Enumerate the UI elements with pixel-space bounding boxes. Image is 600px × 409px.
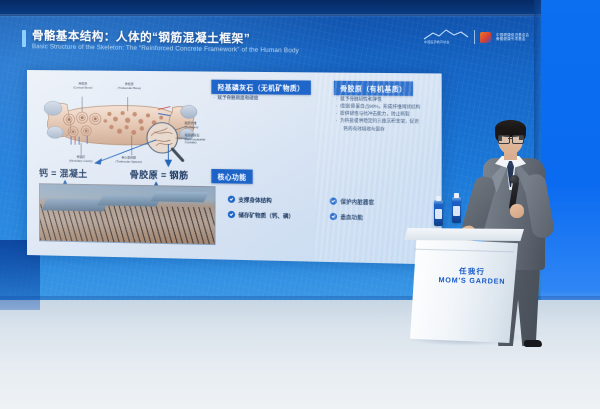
header-accent-bar <box>22 30 26 47</box>
bullets-hydroxyapatite: 赋予骨骼刚度和硬度 <box>213 94 258 102</box>
podium: 任我行 MOM'S GARDEN <box>404 228 524 343</box>
check-circle-icon <box>228 196 235 203</box>
water-bottle-left <box>434 200 443 226</box>
diagram-label-trabecular-spaces: 骨小梁间隙(Trabecular Spaces) <box>115 156 141 164</box>
bottle-cap <box>436 196 441 201</box>
bottle-label <box>435 209 442 219</box>
slide-header: 骨骼基本结构：人体的“钢筋混凝土框架” Basic Structure of t… <box>22 27 444 68</box>
tag-core-functions: 核心功能 <box>211 169 252 184</box>
water-bottle-right <box>452 197 461 223</box>
eyeglass-lens-left <box>498 135 510 144</box>
check-circle-icon <box>330 213 337 220</box>
core-function-label: 支撑身体结构 <box>238 195 271 204</box>
core-function-label: 造血功能 <box>340 213 363 222</box>
core-functions-block: 核心功能 支撑身体结构 保护内脏器官 储存矿物质（钙、磷） 造血功能 <box>207 169 431 249</box>
foundation-logo-text: 中国健康促进基金会 骨骼健康专项基金 <box>496 33 529 42</box>
bullets-collagen: 赋予骨骼韧性和弹性 Ⅰ型胶原蛋白占90%，形成纤维网状结构 提供韧性与抗冲击能力… <box>336 95 420 133</box>
core-functions-grid: 支撑身体结构 保护内脏器官 储存矿物质（钙、磷） 造血功能 <box>228 192 433 227</box>
bottle-label <box>453 206 460 216</box>
equation-calcium-concrete: 钙 = 混凝土 <box>39 166 88 180</box>
bottle-cap <box>454 193 459 198</box>
bullet-hydroxyapatite-1: 赋予骨骼刚度和硬度 <box>213 94 258 102</box>
logo-divider <box>474 30 475 44</box>
eyeglass-lens-right <box>512 135 524 144</box>
microphone-head-icon <box>510 175 519 184</box>
diagram-label-collagen: 胶原纤维(Collagen) <box>185 122 199 130</box>
speaker-hand-holding-mic <box>510 204 524 218</box>
analogy-equations: 钙 = 混凝土 骨胶原 = 钢筋 <box>33 166 222 185</box>
photo-slab-3 <box>150 191 209 202</box>
core-function-label: 保护内脏器官 <box>340 197 374 206</box>
foundation-logo-line2: 骨骼健康专项基金 <box>496 37 529 41</box>
check-circle-icon <box>228 211 235 218</box>
backdrop-top-sheen <box>0 14 600 18</box>
bone-anatomy-diagram: 骨密质(Cortical Bone) 骨松质(Trabecular Bone) … <box>35 78 207 169</box>
tag-hydroxyapatite: 羟基磷灰石（无机矿物质） <box>211 80 310 96</box>
diagram-label-trabecular: 骨松质(Trabecular Bone) <box>118 83 142 91</box>
tag-collagen: 骨胶原（有机基质） <box>334 81 413 97</box>
equation-collagen-rebar: 骨胶原 = 钢筋 <box>130 168 189 182</box>
projected-slide: 骨密质(Cortical Bone) 骨松质(Trabecular Bone) … <box>27 70 442 265</box>
eyeglasses-icon <box>498 135 523 142</box>
diagram-label-medullary: 骨髓腔(Medullary Cavity) <box>69 156 92 164</box>
slide-subtitle: Basic Structure of the Skeleton: The “Re… <box>32 43 299 54</box>
podium-brand-english: MOM'S GARDEN <box>434 275 510 286</box>
foundation-logo-icon <box>480 32 491 43</box>
core-function-item: 造血功能 <box>330 209 433 226</box>
speaker-shoe <box>524 340 542 347</box>
presentation-scene: 中国医药教育协会 中国健康促进基金会 骨骼健康专项基金 骨骼基本结构：人体的“钢… <box>0 0 600 409</box>
core-function-item: 储存矿物质（钙、磷） <box>228 207 330 224</box>
bullet-collagen-5: 钙的有效吸收与固存 <box>336 124 420 132</box>
core-function-label: 储存矿物质（钙、磷） <box>238 211 294 220</box>
diagram-label-hydroxyapatite: 羟基磷灰石(HydroxyapatiteCrystals) <box>185 134 206 145</box>
podium-top-surface <box>404 228 524 241</box>
podium-body <box>410 238 518 343</box>
check-circle-icon <box>330 198 337 205</box>
rebar-construction-photo <box>39 183 216 245</box>
diagram-label-cortical: 骨密质(Cortical Bone) <box>73 82 92 89</box>
podium-branding: 任我行 MOM'S GARDEN <box>434 267 510 286</box>
